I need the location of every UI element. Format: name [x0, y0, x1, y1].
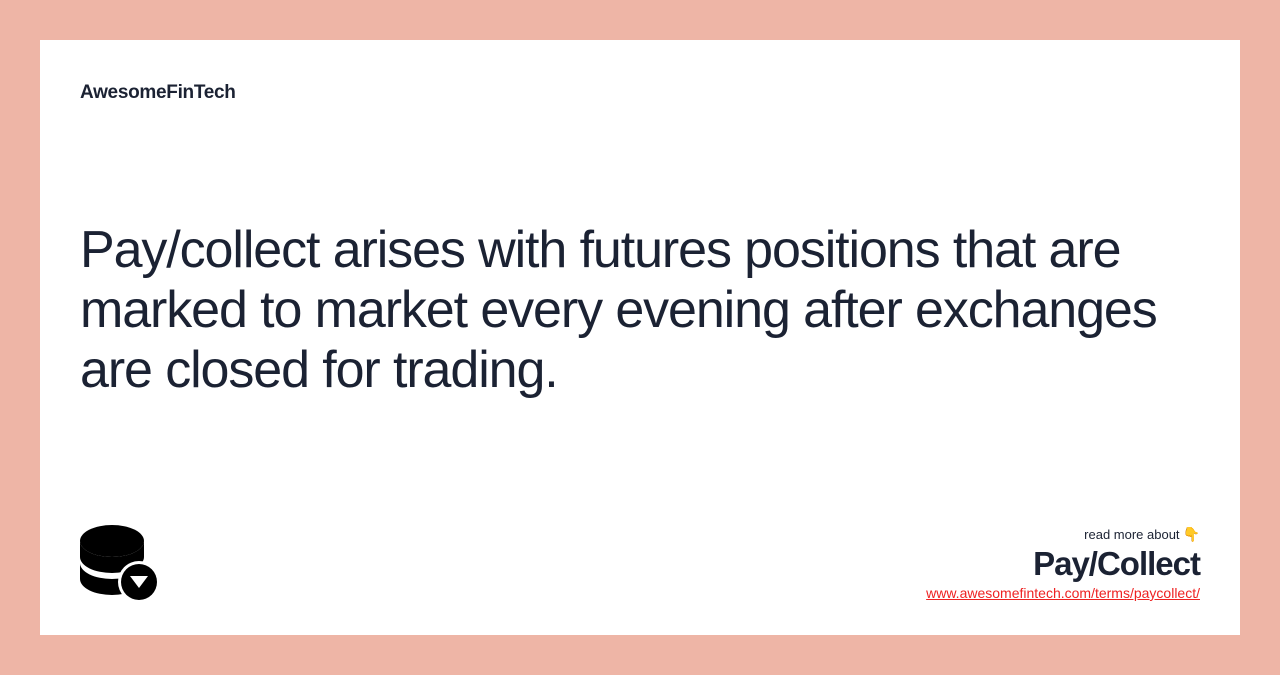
card-footer: read more about👇 Pay/Collect www.awesome… — [80, 523, 1200, 603]
read-more-label: read more about👇 — [926, 526, 1200, 543]
quote-text: Pay/collect arises with futures position… — [80, 220, 1190, 400]
term-url-link[interactable]: www.awesomefintech.com/terms/paycollect/ — [926, 584, 1200, 602]
coin-stack-download-icon — [80, 525, 160, 603]
quote-card-page: AwesomeFinTech Pay/collect arises with f… — [0, 0, 1280, 675]
read-more-text: read more about — [1084, 527, 1179, 542]
term-reference: read more about👇 Pay/Collect www.awesome… — [926, 526, 1200, 603]
pointing-down-icon: 👇 — [1183, 526, 1200, 542]
quote-card: AwesomeFinTech Pay/collect arises with f… — [40, 40, 1240, 635]
term-title: Pay/Collect — [926, 545, 1200, 583]
brand-name: AwesomeFinTech — [80, 82, 236, 104]
